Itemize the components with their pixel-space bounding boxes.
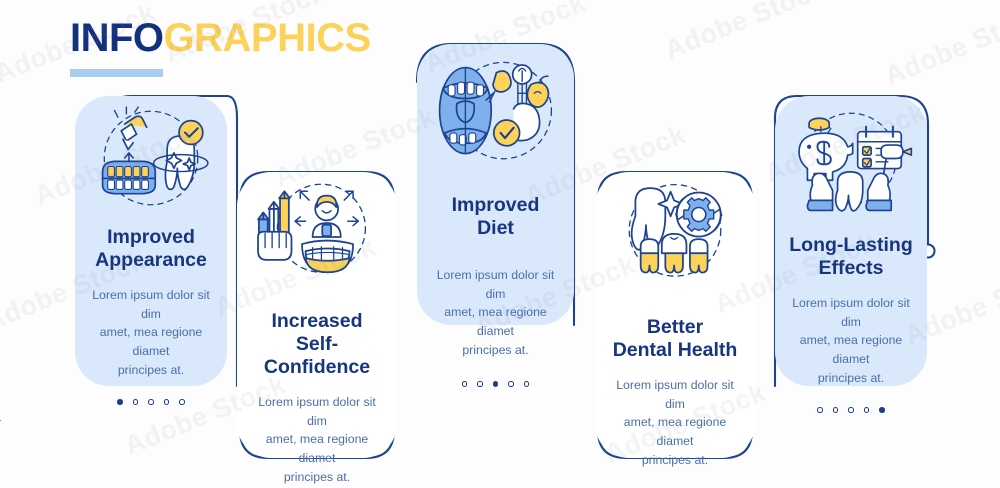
step-dot-2[interactable] — [477, 381, 483, 387]
card-title: Increased Self-Confidence — [251, 310, 383, 379]
step-dot-5[interactable] — [179, 399, 185, 405]
step-dot-4[interactable] — [164, 399, 170, 405]
step-dot-2[interactable] — [133, 399, 139, 405]
step-dot-2[interactable] — [833, 407, 839, 413]
title-underline-rule — [70, 69, 163, 77]
infographic-canvas: INFOGRAPHICS — [0, 0, 1000, 488]
step-dot-1[interactable] — [117, 399, 123, 405]
step-dot-3[interactable] — [493, 381, 499, 387]
step-dots[interactable] — [462, 381, 530, 387]
step-dot-3[interactable] — [848, 407, 854, 413]
growth-arrows-person-smile-icon — [251, 172, 383, 288]
piggy-bank-calendar-hands-tooth-icon — [789, 96, 913, 226]
tooth-gear-dental-bridge-icon — [609, 172, 741, 294]
card-body-text: Lorem ipsum dolor sit dim amet, mea regi… — [251, 393, 383, 486]
page-title: INFOGRAPHICS — [70, 18, 371, 58]
card-body-text: Lorem ipsum dolor sit dim amet, mea regi… — [89, 286, 213, 379]
card-better-dental-health[interactable]: Better Dental Health Lorem ipsum dolor s… — [595, 172, 755, 458]
step-dots[interactable] — [117, 399, 185, 405]
step-dot-1[interactable] — [462, 381, 468, 387]
step-dot-4[interactable] — [508, 381, 514, 387]
card-long-lasting-effects[interactable]: Long-Lasting Effects Lorem ipsum dolor s… — [775, 96, 927, 386]
step-dot-1[interactable] — [817, 407, 823, 413]
step-dots[interactable] — [817, 407, 885, 413]
page-header: INFOGRAPHICS — [70, 18, 371, 77]
page-title-part-1: INFO — [70, 16, 164, 60]
step-dot-3[interactable] — [148, 399, 154, 405]
card-title: Long-Lasting Effects — [789, 234, 912, 280]
mouth-food-stomach-icon — [431, 44, 560, 184]
card-body-text: Lorem ipsum dolor sit dim amet, mea regi… — [609, 376, 741, 469]
step-dot-5[interactable] — [524, 381, 530, 387]
dentures-toothbrush-sparkling-tooth-icon — [89, 96, 213, 220]
card-title: Better Dental Health — [613, 316, 738, 362]
card-improved-diet[interactable]: Improved Diet Lorem ipsum dolor sit dim … — [417, 44, 574, 325]
step-dot-4[interactable] — [864, 407, 870, 413]
page-title-part-2: GRAPHICS — [164, 16, 371, 60]
card-title: Improved Appearance — [95, 226, 207, 272]
connector-card1-right — [227, 96, 237, 386]
card-title: Improved Diet — [431, 194, 560, 240]
card-improved-appearance[interactable]: Improved Appearance Lorem ipsum dolor si… — [75, 96, 227, 386]
card-body-text: Lorem ipsum dolor sit dim amet, mea regi… — [431, 266, 560, 359]
card-body-text: Lorem ipsum dolor sit dim amet, mea regi… — [789, 294, 913, 387]
step-dot-5[interactable] — [879, 407, 885, 413]
card-increased-self-confidence[interactable]: Increased Self-Confidence Lorem ipsum do… — [237, 172, 397, 458]
